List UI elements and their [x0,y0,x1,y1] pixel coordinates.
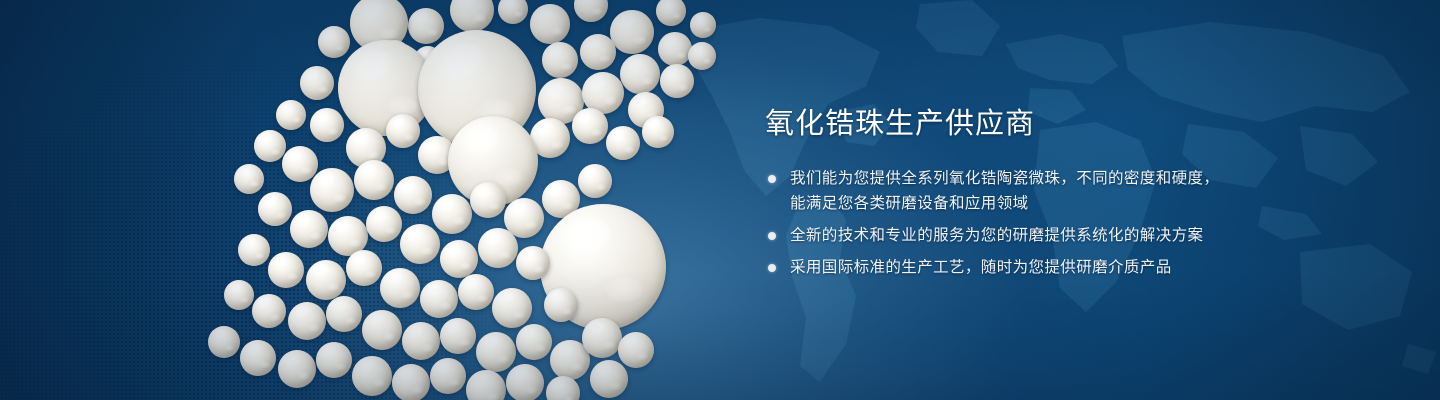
list-item-line-1: 采用国际标准的生产工艺，随时为您提供研磨介质产品 [790,259,1172,276]
list-item: 我们能为您提供全系列氧化锆陶瓷微珠，不同的密度和硬度， 能满足您各类研磨设备和应… [765,166,1325,216]
list-item-line-2: 能满足您各类研磨设备和应用领域 [790,191,1325,216]
page-title: 氧化锆珠生产供应商 [765,104,1325,144]
feature-list: 我们能为您提供全系列氧化锆陶瓷微珠，不同的密度和硬度， 能满足您各类研磨设备和应… [765,166,1325,280]
list-item: 全新的技术和专业的服务为您的研磨提供系统化的解决方案 [765,223,1325,248]
bullet-dot-icon [768,175,776,183]
list-item: 采用国际标准的生产工艺，随时为您提供研磨介质产品 [765,255,1325,280]
hero-banner: 氧化锆珠生产供应商 我们能为您提供全系列氧化锆陶瓷微珠，不同的密度和硬度， 能满… [0,0,1440,400]
bullet-dot-icon [768,264,776,272]
list-item-line-1: 我们能为您提供全系列氧化锆陶瓷微珠，不同的密度和硬度， [790,170,1219,187]
list-item-line-1: 全新的技术和专业的服务为您的研磨提供系统化的解决方案 [790,227,1203,244]
banner-copy: 氧化锆珠生产供应商 我们能为您提供全系列氧化锆陶瓷微珠，不同的密度和硬度， 能满… [765,104,1325,280]
bullet-dot-icon [768,232,776,240]
